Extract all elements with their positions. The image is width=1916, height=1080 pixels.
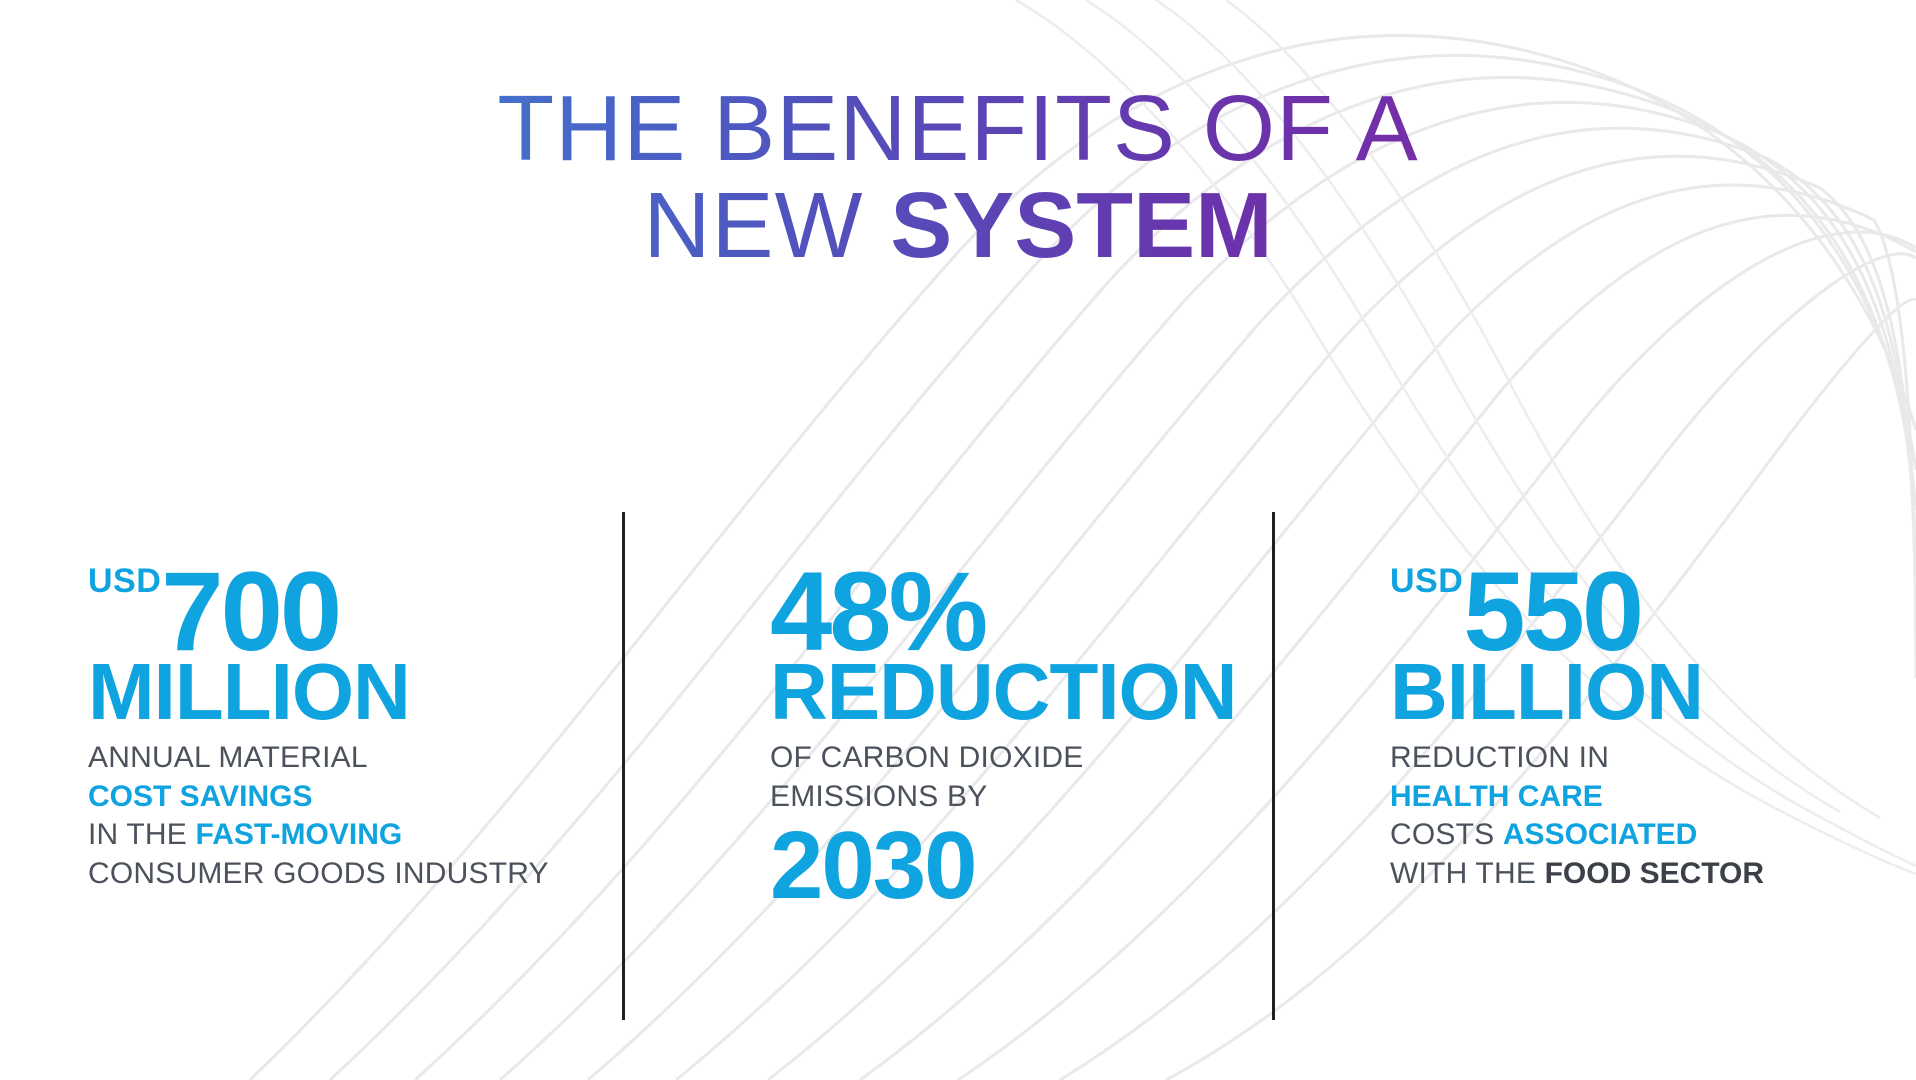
- desc-seg-highlight: ASSOCIATED: [1503, 818, 1697, 851]
- desc-seg-highlight: FAST-MOVING: [196, 818, 403, 851]
- desc-seg: EMISSIONS BY: [770, 780, 987, 813]
- desc-line: COSTS ASSOCIATED: [1390, 816, 1860, 854]
- currency-mark: USD: [88, 562, 161, 600]
- desc-seg: WITH THE: [1390, 857, 1545, 890]
- stat-description: ANNUAL MATERIAL COST SAVINGS IN THE FAST…: [88, 739, 598, 893]
- desc-line: OF CARBON DIOXIDE: [770, 739, 1240, 777]
- desc-seg-highlight: HEALTH CARE: [1390, 780, 1603, 813]
- desc-line: WITH THE FOOD SECTOR: [1390, 855, 1860, 893]
- desc-seg: ANNUAL MATERIAL: [88, 741, 368, 774]
- desc-line: IN THE FAST-MOVING: [88, 816, 598, 854]
- desc-line: HEALTH CARE: [1390, 778, 1860, 816]
- desc-line: EMISSIONS BY: [770, 778, 1240, 816]
- desc-seg: REDUCTION IN: [1390, 741, 1609, 774]
- stat-unit: REDUCTION: [770, 657, 1240, 727]
- currency-mark: USD: [1390, 562, 1463, 600]
- stat-block-cost-savings: USD700 MILLION ANNUAL MATERIAL COST SAVI…: [88, 560, 598, 893]
- stat-year: 2030: [770, 818, 1240, 914]
- stat-description: REDUCTION IN HEALTH CARE COSTS ASSOCIATE…: [1390, 739, 1860, 893]
- stat-unit: MILLION: [88, 657, 598, 727]
- title-line-2-plain: NEW: [643, 173, 890, 277]
- desc-seg: COSTS: [1390, 818, 1503, 851]
- desc-seg: CONSUMER GOODS INDUSTRY: [88, 857, 549, 890]
- desc-line: CONSUMER GOODS INDUSTRY: [88, 855, 598, 893]
- stat-description: OF CARBON DIOXIDE EMISSIONS BY 2030: [770, 739, 1240, 914]
- title-line-2-strong: SYSTEM: [890, 173, 1272, 277]
- desc-seg: IN THE: [88, 818, 196, 851]
- column-divider-left: [622, 512, 625, 1020]
- title-line-1: THE BENEFITS OF A: [0, 78, 1916, 179]
- desc-seg: OF CARBON DIOXIDE: [770, 741, 1083, 774]
- stat-unit: BILLION: [1390, 657, 1860, 727]
- stat-block-co2-reduction: 48% REDUCTION OF CARBON DIOXIDE EMISSION…: [770, 560, 1240, 914]
- desc-line: ANNUAL MATERIAL: [88, 739, 598, 777]
- desc-line: REDUCTION IN: [1390, 739, 1860, 777]
- stat-block-health-care-costs: USD550 BILLION REDUCTION IN HEALTH CARE …: [1390, 560, 1860, 893]
- column-divider-right: [1272, 512, 1275, 1020]
- slide-canvas: THE BENEFITS OF A NEW SYSTEM USD700 MILL…: [0, 0, 1916, 1080]
- desc-seg-highlight: COST SAVINGS: [88, 780, 312, 813]
- page-title: THE BENEFITS OF A NEW SYSTEM: [0, 78, 1916, 276]
- desc-seg-highlight-dark: FOOD SECTOR: [1545, 857, 1764, 890]
- title-line-2: NEW SYSTEM: [0, 175, 1916, 276]
- desc-line: COST SAVINGS: [88, 778, 598, 816]
